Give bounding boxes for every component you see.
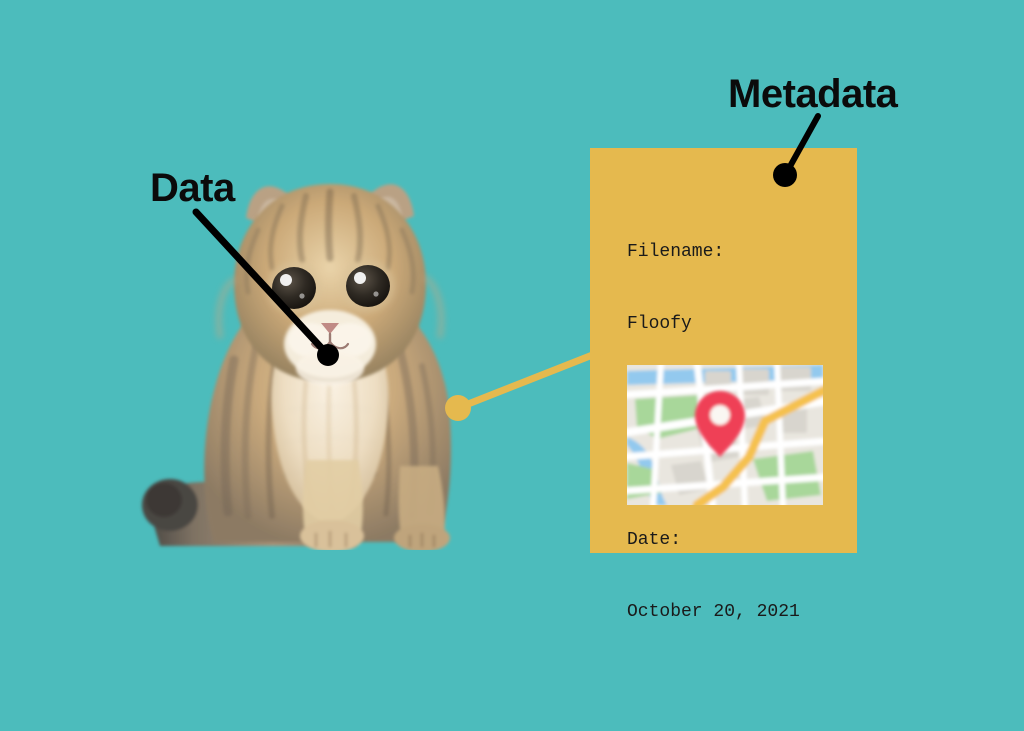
metadata-card: Filename: Floofy Author: Hive Art Media … (590, 148, 857, 553)
map-thumbnail (627, 365, 823, 505)
metadata-line-filename-key: Filename: (627, 240, 800, 264)
metadata-line-date-key: Date: (627, 528, 800, 552)
illustration-canvas: Filename: Floofy Author: Hive Art Media … (0, 0, 1024, 731)
callout-label-data: Data (150, 168, 235, 208)
callout-label-metadata: Metadata (728, 74, 897, 114)
metadata-line-date-value: October 20, 2021 (627, 600, 800, 624)
kitten-photograph (130, 160, 520, 550)
metadata-line-filename-value: Floofy (627, 312, 800, 336)
